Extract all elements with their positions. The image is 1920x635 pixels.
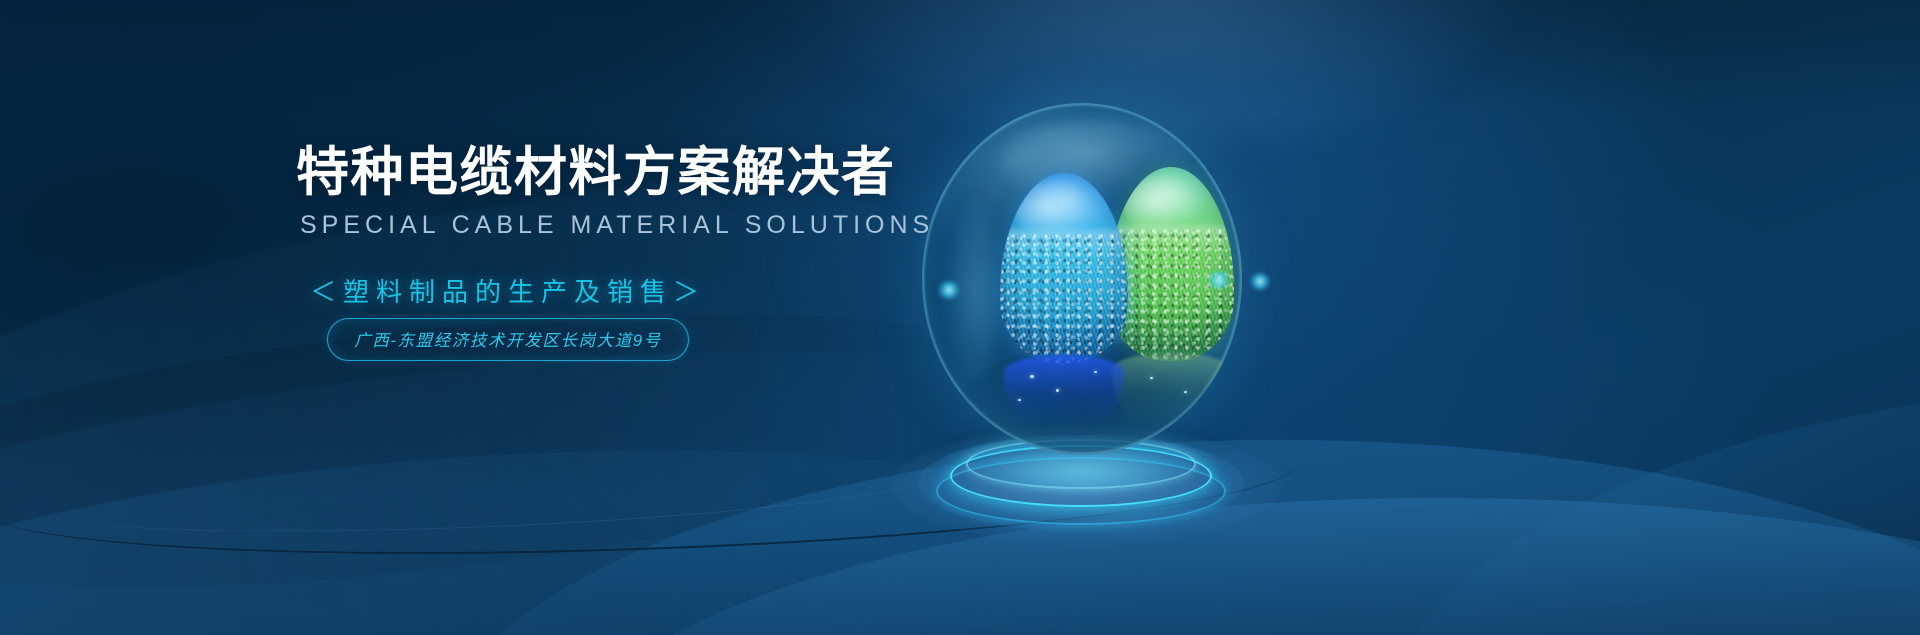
sphere-glow-dot-far-right-icon — [1248, 273, 1272, 290]
reflection-sparkle — [1056, 389, 1059, 392]
sphere-glow-dot-left-icon — [936, 281, 962, 299]
reflection-sparkle — [1150, 377, 1153, 379]
sphere-glow-dot-right-icon — [1206, 271, 1232, 289]
blue-pellet-grain-overlay — [1000, 234, 1128, 363]
glass-sphere-graphic — [900, 95, 1260, 555]
address-badge-wrapper: 广西-东盟经济技术开发区长岗大道9号 — [308, 318, 708, 361]
reflection-sparkle — [1184, 391, 1187, 393]
address-badge: 广西-东盟经济技术开发区长岗大道9号 — [327, 318, 688, 361]
page-title: 特种电缆材料方案解决者 — [296, 146, 896, 199]
tagline: ＜塑料制品的生产及销售＞ — [308, 272, 708, 309]
hero-banner: 特种电缆材料方案解决者 SPECIAL CABLE MATERIAL SOLUT… — [0, 0, 1920, 635]
reflection-sparkle — [1094, 371, 1097, 373]
green-heap-highlight — [1123, 175, 1201, 233]
reflection-sparkle — [1018, 399, 1021, 401]
reflection-sparkle — [1030, 375, 1034, 378]
page-subtitle: SPECIAL CABLE MATERIAL SOLUTIONS — [300, 211, 934, 240]
blue-heap-highlight — [1015, 181, 1094, 238]
